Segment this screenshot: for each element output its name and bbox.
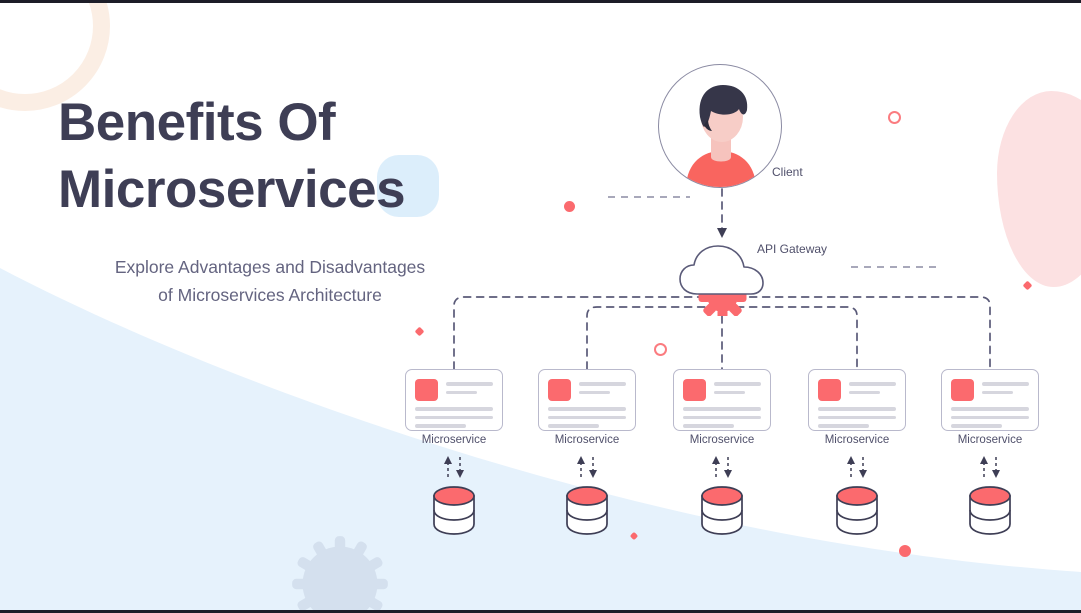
card-thumbnail-icon xyxy=(683,379,706,401)
page-subtitle: Explore Advantages and Disadvantages of … xyxy=(58,253,478,309)
card-line xyxy=(446,382,493,386)
card-line xyxy=(951,416,1029,420)
client-avatar xyxy=(659,65,782,188)
card-thumbnail-icon xyxy=(818,379,841,401)
card-header-lines xyxy=(982,379,1029,399)
card-line xyxy=(951,424,1002,428)
card-line xyxy=(683,424,734,428)
card-line xyxy=(548,407,626,411)
card-line xyxy=(982,382,1029,386)
database-icon[interactable] xyxy=(835,484,879,536)
card-header xyxy=(951,379,1029,401)
card-thumbnail-icon xyxy=(951,379,974,401)
card-line xyxy=(683,407,761,411)
client-avatar-circle xyxy=(658,64,782,188)
client-node[interactable] xyxy=(658,64,782,188)
api-gateway-label: API Gateway xyxy=(757,242,827,256)
card-line xyxy=(415,407,493,411)
card-body-lines xyxy=(548,407,626,428)
card-line xyxy=(579,382,626,386)
card-body-lines xyxy=(415,407,493,428)
microservice-label: Microservice xyxy=(527,434,647,446)
microservice-label: Microservice xyxy=(394,434,514,446)
api-gateway-node[interactable] xyxy=(675,241,770,316)
database-icon[interactable] xyxy=(565,484,609,536)
card-thumbnail-icon xyxy=(415,379,438,401)
card-line xyxy=(818,424,869,428)
card-line xyxy=(446,391,477,395)
card-line xyxy=(579,391,610,395)
microservice-label: Microservice xyxy=(662,434,782,446)
arrowhead-gateway xyxy=(717,228,727,238)
card-header xyxy=(415,379,493,401)
slide-canvas: Benefits Of Microservices Explore Advant… xyxy=(0,0,1081,613)
database-icon[interactable] xyxy=(968,484,1012,536)
card-line xyxy=(951,407,1029,411)
microservice-label: Microservice xyxy=(797,434,917,446)
card-header xyxy=(548,379,626,401)
sync-arrows-icon xyxy=(707,455,737,479)
card-line xyxy=(548,416,626,420)
sync-arrows-icon xyxy=(572,455,602,479)
card-body-lines xyxy=(683,407,761,428)
card-header xyxy=(818,379,896,401)
card-line xyxy=(714,391,745,395)
card-line xyxy=(982,391,1013,395)
card-line xyxy=(849,382,896,386)
title-line-2: Microservices xyxy=(58,160,405,219)
card-line xyxy=(415,416,493,420)
microservice-card[interactable] xyxy=(405,369,503,431)
page-title: Benefits Of Microservices xyxy=(58,89,478,223)
cloud-gateway-icon xyxy=(675,241,770,316)
title-line-1: Benefits Of xyxy=(58,93,335,152)
subtitle-line-2: of Microservices Architecture xyxy=(158,285,382,305)
card-line xyxy=(818,416,896,420)
microservice-card[interactable] xyxy=(808,369,906,431)
card-line xyxy=(683,416,761,420)
microservice-label: Microservice xyxy=(930,434,1050,446)
sync-arrows-icon xyxy=(439,455,469,479)
card-line xyxy=(548,424,599,428)
client-label: Client xyxy=(772,165,803,179)
card-line xyxy=(818,407,896,411)
card-header-lines xyxy=(849,379,896,399)
database-icon[interactable] xyxy=(432,484,476,536)
card-line xyxy=(849,391,880,395)
microservice-card[interactable] xyxy=(941,369,1039,431)
card-header xyxy=(683,379,761,401)
microservice-card[interactable] xyxy=(673,369,771,431)
card-body-lines xyxy=(818,407,896,428)
subtitle-line-1: Explore Advantages and Disadvantages xyxy=(115,257,425,277)
headline-block: Benefits Of Microservices Explore Advant… xyxy=(58,89,478,309)
microservice-card[interactable] xyxy=(538,369,636,431)
card-header-lines xyxy=(579,379,626,399)
card-line xyxy=(415,424,466,428)
sync-arrows-icon xyxy=(842,455,872,479)
sync-arrows-icon xyxy=(975,455,1005,479)
card-header-lines xyxy=(714,379,761,399)
card-header-lines xyxy=(446,379,493,399)
card-body-lines xyxy=(951,407,1029,428)
card-thumbnail-icon xyxy=(548,379,571,401)
card-line xyxy=(714,382,761,386)
database-icon[interactable] xyxy=(700,484,744,536)
